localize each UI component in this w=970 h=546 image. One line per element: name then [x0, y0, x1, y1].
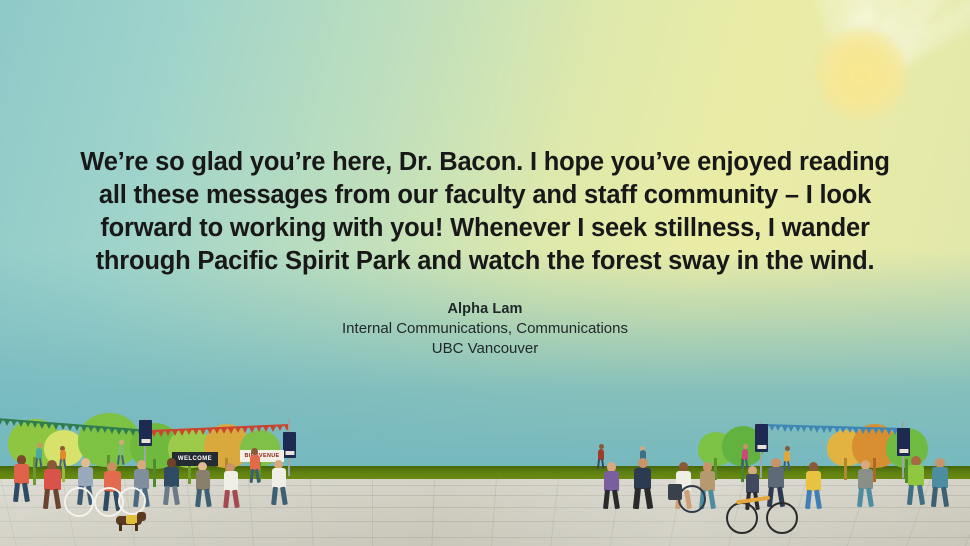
- plaza-light-wash: [0, 479, 970, 546]
- author-role: Internal Communications, Communications: [50, 319, 920, 339]
- author-name: Alpha Lam: [50, 300, 920, 319]
- quote-line: all these messages from our faculty and …: [50, 179, 920, 212]
- sun-icon: [815, 28, 907, 120]
- quote-line: forward to working with you! Whenever I …: [50, 212, 920, 245]
- author-organization: UBC Vancouver: [50, 339, 920, 359]
- attribution-block: Alpha Lam Internal Communications, Commu…: [50, 300, 920, 359]
- quote-line: We’re so glad you’re here, Dr. Bacon. I …: [50, 146, 920, 179]
- grass-strip: [0, 466, 970, 480]
- quote-text: We’re so glad you’re here, Dr. Bacon. I …: [50, 146, 920, 278]
- slide-canvas: WELCOME BIENVENUE: [0, 0, 970, 546]
- quote-line: through Pacific Spirit Park and watch th…: [50, 245, 920, 278]
